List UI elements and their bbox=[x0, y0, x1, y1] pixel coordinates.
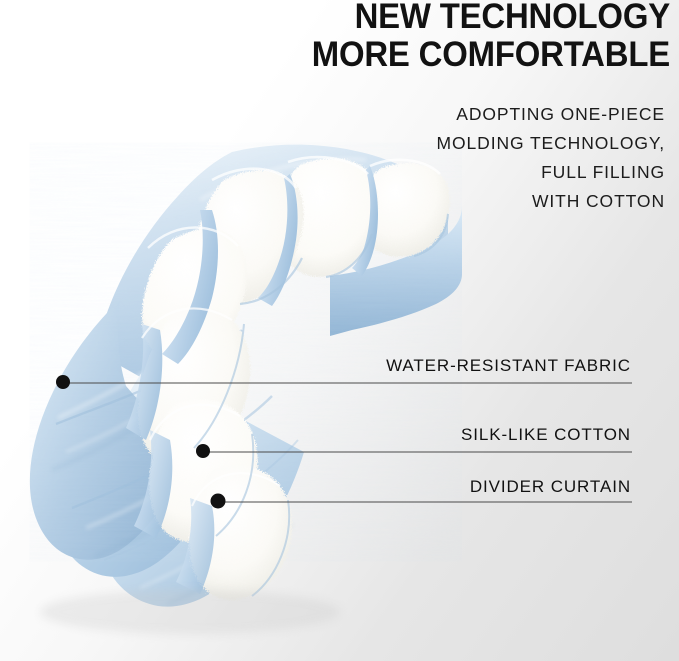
subtitle-line-1: ADOPTING ONE-PIECE bbox=[245, 100, 665, 129]
headline-line-1: NEW TECHNOLOGY bbox=[181, 0, 670, 36]
product-feature-graphic: NEW TECHNOLOGY MORE COMFORTABLE ADOPTING… bbox=[0, 0, 679, 661]
divider-curtain-4 bbox=[134, 430, 172, 538]
headline-line-2: MORE COMFORTABLE bbox=[181, 36, 670, 74]
fabric-tube-lower bbox=[95, 372, 304, 607]
drop-shadow bbox=[40, 590, 340, 634]
subtitle-line-3: FULL FILLING bbox=[245, 158, 665, 187]
fabric-shadow-lines bbox=[52, 394, 292, 604]
divider-curtain-5 bbox=[176, 498, 214, 594]
callout-label: SILK-LIKE COTTON bbox=[352, 425, 632, 445]
leader-dot-1 bbox=[56, 375, 70, 389]
subtitle-block: ADOPTING ONE-PIECE MOLDING TECHNOLOGY, F… bbox=[245, 100, 665, 216]
callout-silk-like-cotton: SILK-LIKE COTTON bbox=[352, 425, 632, 445]
fabric-right-rail bbox=[330, 206, 462, 336]
page-title: NEW TECHNOLOGY MORE COMFORTABLE bbox=[181, 0, 670, 74]
cotton-chamber-6 bbox=[149, 399, 257, 542]
subtitle-line-4: WITH COTTON bbox=[245, 187, 665, 216]
fabric-tube-mid bbox=[49, 352, 224, 577]
leader-dot-2 bbox=[196, 444, 210, 458]
cotton-chamber-5 bbox=[138, 307, 250, 465]
fabric-seam-2 bbox=[72, 396, 272, 508]
cotton-chamber-7 bbox=[189, 465, 292, 600]
callout-label: WATER-RESISTANT FABRIC bbox=[352, 356, 632, 376]
leader-dot-3 bbox=[211, 494, 226, 509]
callout-label: DIVIDER CURTAIN bbox=[352, 477, 632, 497]
fabric-tube-upper bbox=[30, 300, 186, 560]
fabric-sheen bbox=[58, 159, 366, 588]
fabric-seam-3 bbox=[104, 440, 298, 560]
chamber-rim-shadows bbox=[194, 214, 448, 596]
divider-curtain-1 bbox=[162, 210, 218, 364]
subtitle-line-2: MOLDING TECHNOLOGY, bbox=[245, 129, 665, 158]
divider-curtain-0 bbox=[126, 324, 162, 440]
divider-curtains bbox=[126, 166, 378, 594]
cotton-chamber-1 bbox=[142, 228, 247, 362]
fabric-seam-1 bbox=[56, 330, 242, 424]
callout-divider-curtain: DIVIDER CURTAIN bbox=[352, 477, 632, 497]
callout-water-resistant-fabric: WATER-RESISTANT FABRIC bbox=[352, 356, 632, 376]
cotton-chambers bbox=[138, 159, 450, 601]
